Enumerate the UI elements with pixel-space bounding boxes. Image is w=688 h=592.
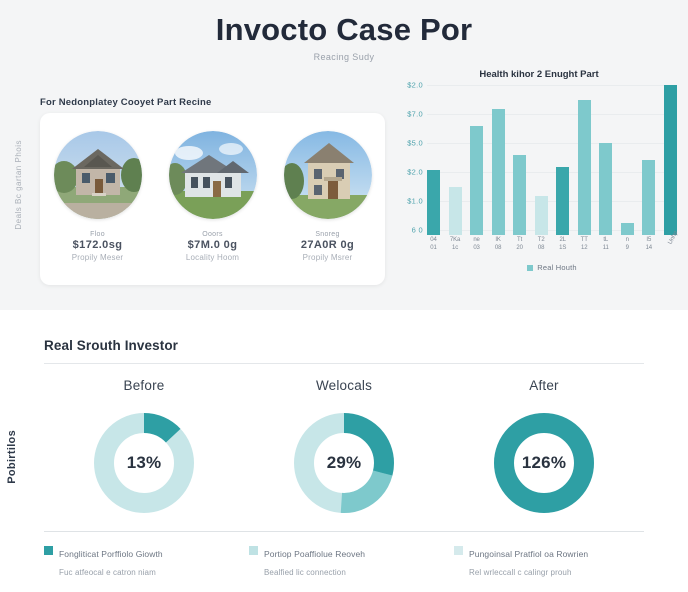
bar[interactable] [535, 196, 548, 235]
legend-label: Real Houth [537, 263, 577, 272]
bar[interactable] [556, 167, 569, 235]
property-photo-2[interactable] [169, 131, 257, 219]
donut-charts: 13%29%126% [44, 408, 644, 518]
donut-label-before: Before [54, 378, 234, 393]
bar-chart-x-axis: 04017Ka1cne03IK08Tt20T2082L1STT12tL11n9I… [427, 237, 677, 252]
bar[interactable] [470, 126, 483, 235]
property-sub: Propily Meser [43, 253, 153, 262]
x-axis-tick: 7Ka1c [449, 237, 462, 252]
growth-section-title: Real Srouth Investor [44, 338, 178, 353]
bar[interactable] [513, 155, 526, 235]
property-sub: Locality Hoom [158, 253, 268, 262]
y-axis-tick: $1.0 [407, 197, 423, 206]
property-tag: Floo [43, 231, 153, 238]
x-axis-tick: ne03 [470, 237, 483, 252]
section-divider [44, 363, 644, 364]
donut-labels: Before Welocals After [44, 378, 644, 393]
x-axis-tick: tL11 [599, 237, 612, 252]
property-thumbnails [40, 131, 385, 236]
legend-swatch-icon [454, 546, 463, 555]
x-axis-tick: 2L1S [556, 237, 569, 252]
donut-label-after: After [454, 378, 634, 393]
bar-chart-plot [427, 85, 677, 235]
legend-desc: Bealfied lic connection [264, 568, 346, 577]
bar-chart-title: Health kihor 2 Enught Part [390, 69, 688, 80]
y-axis-tick: $2.0 [407, 81, 423, 90]
x-axis-tick: I514 [642, 237, 655, 252]
property-detail-2: Ooors $7M.0 0g Locality Hoom [158, 231, 268, 262]
donut-chart[interactable]: 126% [489, 408, 599, 518]
bar[interactable] [664, 85, 677, 235]
legend-title: Pungoinsal Pratfiol oa Rowrien [469, 549, 588, 559]
donut-value: 126% [489, 408, 599, 518]
dashboard-root: Invocto Case Por Reacing Sudy Deals Bc g… [0, 0, 688, 592]
bar[interactable] [599, 143, 612, 235]
legend-title: Portiop Poaffiolue Reoveh [264, 549, 365, 559]
property-tag: Snoreg [273, 231, 383, 238]
y-axis-tick: 6 0 [412, 226, 423, 235]
property-tag: Ooors [158, 231, 268, 238]
page-title: Invocto Case Por [0, 12, 688, 48]
property-details: Floo $172.0sg Propily Meser Ooors $7M.0 … [40, 231, 385, 262]
property-photo-1[interactable] [54, 131, 142, 219]
property-detail-3: Snoreg 27A0R 0g Propily Msrer [273, 231, 383, 262]
donut-value: 13% [89, 408, 199, 518]
x-axis-tick: T208 [535, 237, 548, 252]
property-photo-3[interactable] [284, 131, 372, 219]
y-axis-tick: $5.0 [407, 139, 423, 148]
legend-swatch-icon [249, 546, 258, 555]
property-card: Floo $172.0sg Propily Meser Ooors $7M.0 … [40, 113, 385, 285]
x-axis-tick: TT12 [578, 237, 591, 252]
bar[interactable] [621, 223, 634, 235]
legend-item: Fongliticat Porffiolo Giowth Fuc atfeoca… [44, 544, 234, 580]
page-subtitle: Reacing Sudy [0, 52, 688, 62]
y-axis-tick: $2.0 [407, 168, 423, 177]
bar[interactable] [642, 160, 655, 235]
bottom-divider [44, 531, 644, 532]
legend-item: Portiop Poaffiolue Reoveh Bealfied lic c… [249, 544, 439, 580]
bar-chart-y-axis: $2.0$7.0$5.0$2.0$1.06 0 [395, 85, 425, 235]
legend-desc: Rel wrleccall c calingr prouh [469, 568, 572, 577]
top-section: Invocto Case Por Reacing Sudy Deals Bc g… [0, 0, 688, 310]
property-detail-1: Floo $172.0sg Propily Meser [43, 231, 153, 262]
bar[interactable] [578, 100, 591, 235]
growth-legend: Fongliticat Porffiolo Giowth Fuc atfeoca… [44, 544, 644, 580]
bar-chart: $2.0$7.0$5.0$2.0$1.06 0 04017Ka1cne03IK0… [395, 85, 680, 285]
bar-chart-legend: Real Houth [427, 263, 677, 272]
x-axis-tick: IK08 [492, 237, 505, 252]
x-axis-tick: n9 [621, 237, 634, 252]
y-axis-tick: $7.0 [407, 110, 423, 119]
legend-title: Fongliticat Porffiolo Giowth [59, 549, 163, 559]
sidebar-vertical-label-bottom: Pobirtilos [6, 430, 18, 484]
legend-swatch-icon [44, 546, 53, 555]
donut-value: 29% [289, 408, 399, 518]
donut-label-welocals: Welocals [254, 378, 434, 393]
property-price: 27A0R 0g [273, 239, 383, 251]
legend-swatch-icon [527, 265, 533, 271]
property-price: $172.0sg [43, 239, 153, 251]
property-price: $7M.0 0g [158, 239, 268, 251]
property-sub: Propily Msrer [273, 253, 383, 262]
sidebar-vertical-label-top: Deals Bc gartan Phois [14, 140, 23, 230]
bar[interactable] [449, 187, 462, 235]
property-panel-heading: For Nedonplatey Cooyet Part Recine [40, 97, 212, 108]
bar[interactable] [427, 170, 440, 235]
donut-chart[interactable]: 13% [89, 408, 199, 518]
legend-item: Pungoinsal Pratfiol oa Rowrien Rel wrlec… [454, 544, 644, 580]
donut-chart[interactable]: 29% [289, 408, 399, 518]
x-axis-tick: 0401 [427, 237, 440, 252]
legend-desc: Fuc atfeocal e catron niam [59, 568, 156, 577]
bar-chart-bars [427, 85, 677, 235]
x-axis-tick: Tt20 [513, 237, 526, 252]
bar[interactable] [492, 109, 505, 235]
